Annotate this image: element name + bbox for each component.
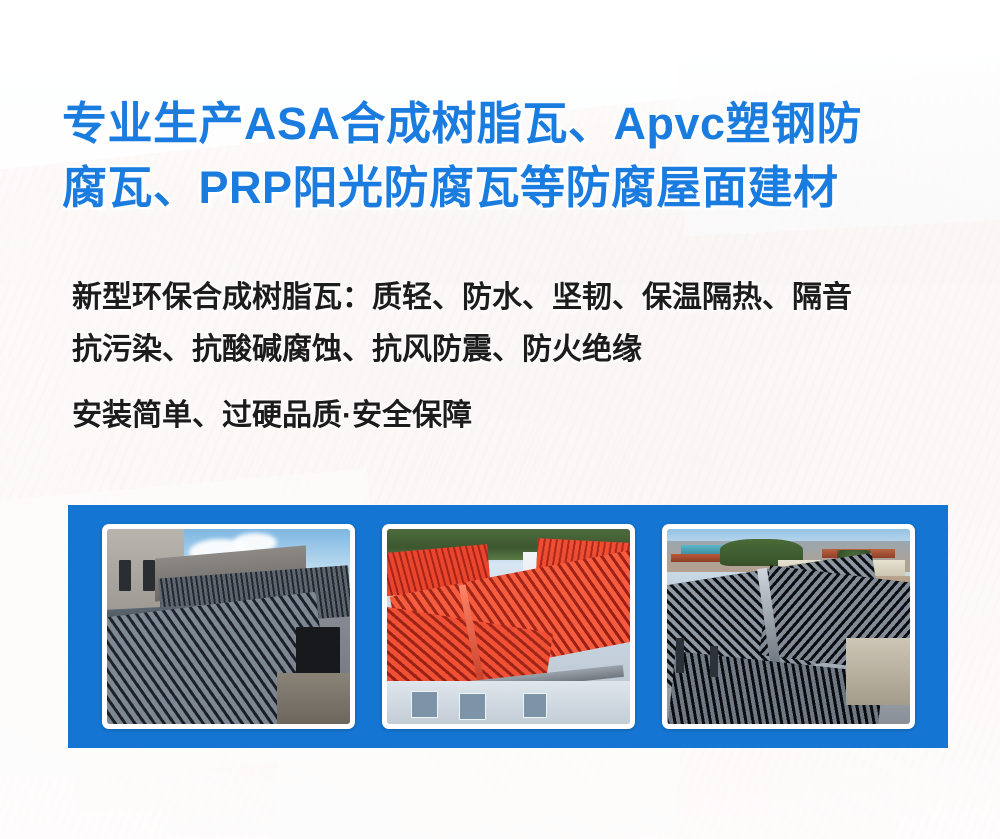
photo-grey-resin-tile-roof-courtyard: [107, 529, 350, 724]
photo3-pillar: [710, 646, 717, 677]
photo1-window: [143, 560, 155, 591]
photo1-ground: [277, 673, 350, 724]
product-photo-gallery: [68, 505, 948, 748]
photo2-lower-window: [411, 691, 438, 718]
photo3-pillar: [676, 638, 683, 673]
subcopy-line-3: 安装简单、过硬品质·安全保障: [72, 390, 952, 442]
headline-line-1: 专业生产ASA合成树脂瓦、Apvc塑钢防: [62, 92, 952, 156]
photo3-courtyard: [846, 638, 909, 704]
photo-red-resin-tile-roof-white-house: [387, 529, 630, 724]
headline-line-2: 腐瓦、PRP阳光防腐瓦等防腐屋面建材: [62, 156, 952, 220]
photo-frame-2[interactable]: [382, 524, 635, 729]
photo2-lower-window: [459, 693, 486, 720]
subcopy: 新型环保合成树脂瓦：质轻、防水、坚韧、保温隔热、隔音 抗污染、抗酸碱腐蚀、抗风防…: [72, 272, 952, 442]
photo-frame-3[interactable]: [662, 524, 915, 729]
subcopy-line-1: 新型环保合成树脂瓦：质轻、防水、坚韧、保温隔热、隔音: [72, 272, 952, 324]
subcopy-line-2: 抗污染、抗酸碱腐蚀、抗风防震、防火绝缘: [72, 324, 952, 376]
product-banner: 专业生产ASA合成树脂瓦、Apvc塑钢防 腐瓦、PRP阳光防腐瓦等防腐屋面建材 …: [0, 0, 1000, 839]
photo-frame-1[interactable]: [102, 524, 355, 729]
photo-black-resin-tile-roof-village: [667, 529, 910, 724]
headline: 专业生产ASA合成树脂瓦、Apvc塑钢防 腐瓦、PRP阳光防腐瓦等防腐屋面建材: [62, 92, 952, 220]
photo2-lower-window: [523, 693, 547, 718]
photo1-doorway: [296, 627, 340, 678]
photo1-window: [119, 560, 131, 591]
